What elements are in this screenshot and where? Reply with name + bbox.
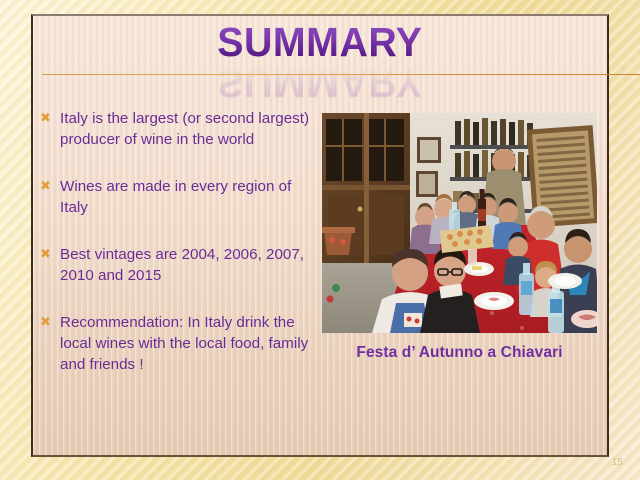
list-item: ✖ Italy is the largest (or second larges… — [36, 108, 312, 150]
list-item-label: Italy is the largest (or second largest)… — [60, 108, 312, 150]
list-item-label: Recommendation: In Italy drink the local… — [60, 312, 312, 375]
cross-bullet-icon: ✖ — [36, 176, 60, 196]
list-item-label: Best vintages are 2004, 2006, 2007, 2010… — [60, 244, 312, 286]
list-item: ✖ Wines are made in every region of Ital… — [36, 176, 312, 218]
presentation-slide: SUMMARY SUMMARY ✖ Italy is the largest (… — [0, 0, 640, 480]
list-item: ✖ Recommendation: In Italy drink the loc… — [36, 312, 312, 375]
page-number: 15 — [612, 457, 623, 468]
list-item: ✖ Best vintages are 2004, 2006, 2007, 20… — [36, 244, 312, 286]
cross-bullet-icon: ✖ — [36, 108, 60, 128]
title-divider-rule — [42, 74, 640, 75]
photo-caption: Festa d’ Autunno a Chiavari — [322, 344, 597, 362]
dinner-photo — [322, 113, 597, 333]
cross-bullet-icon: ✖ — [36, 244, 60, 264]
cross-bullet-icon: ✖ — [36, 312, 60, 332]
bullet-list: ✖ Italy is the largest (or second larges… — [36, 108, 312, 401]
list-item-label: Wines are made in every region of Italy — [60, 176, 312, 218]
